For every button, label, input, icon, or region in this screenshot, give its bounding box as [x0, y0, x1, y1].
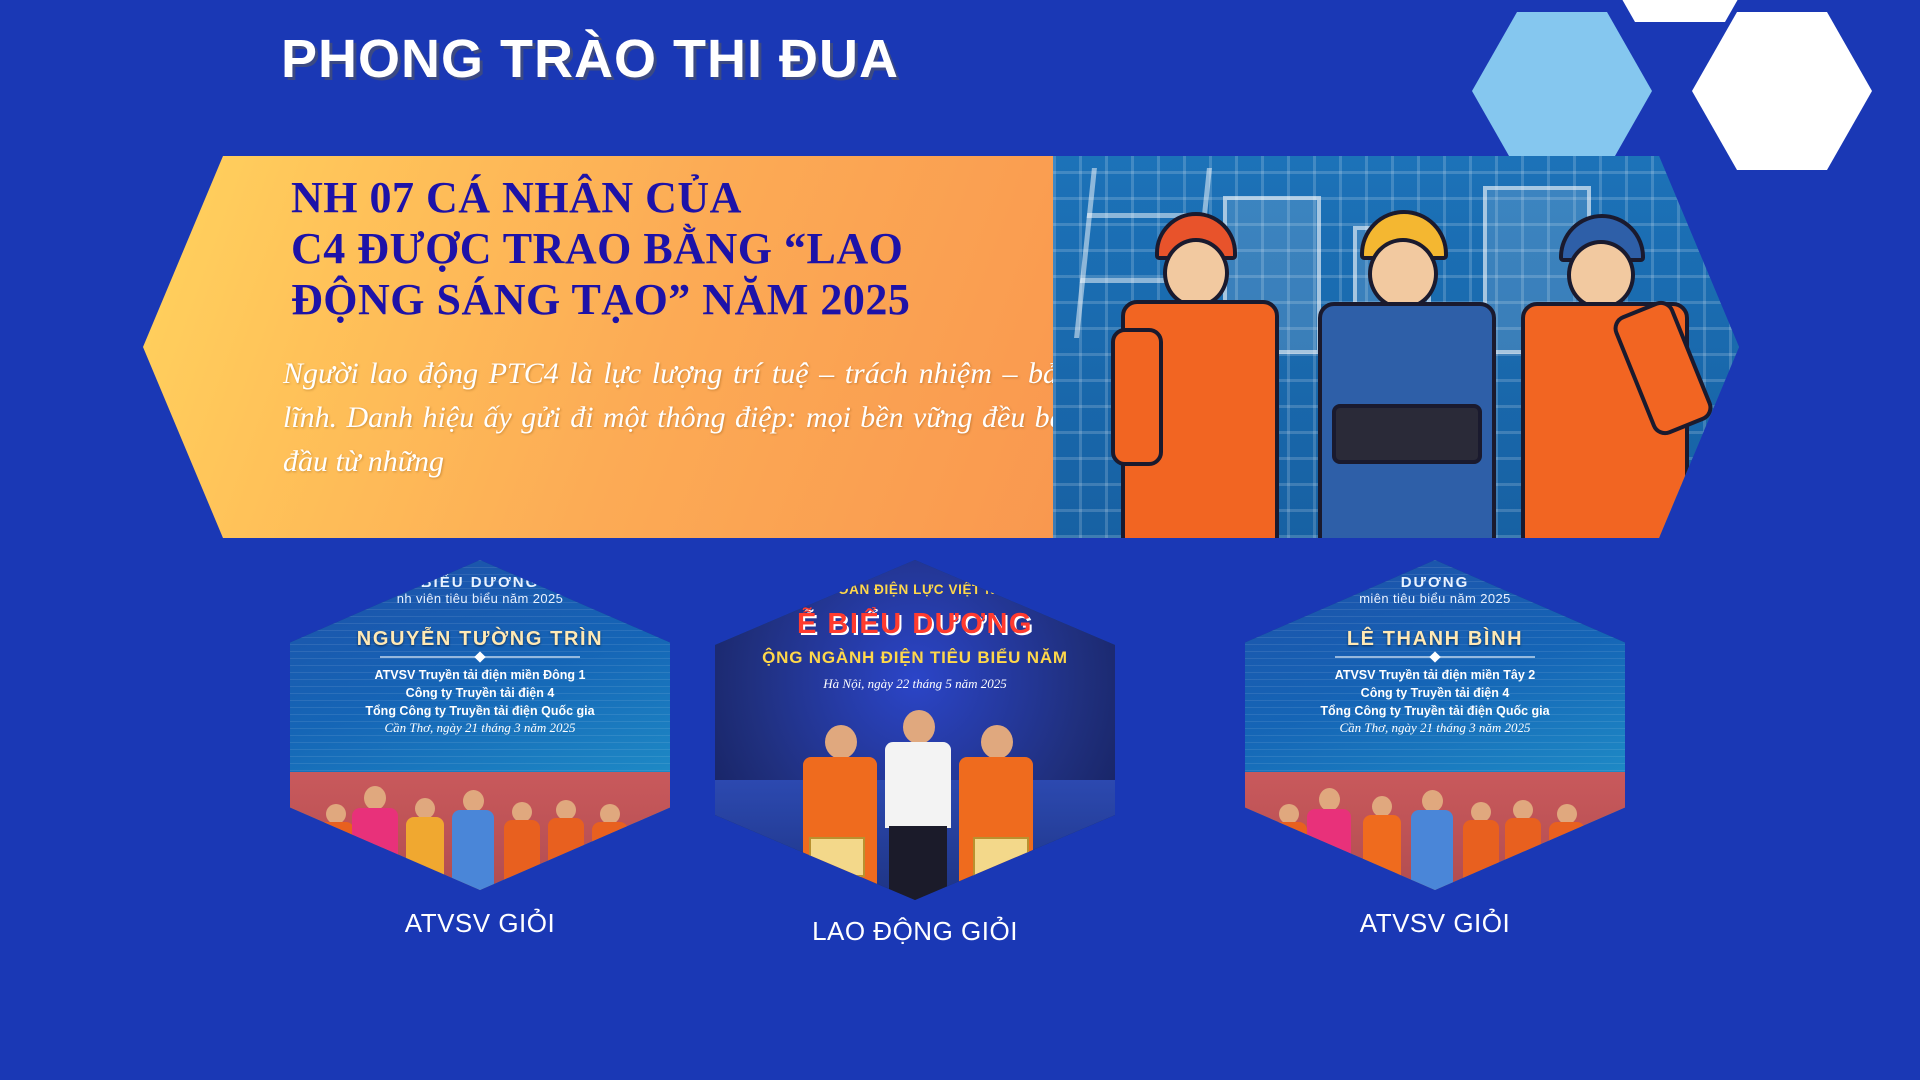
card-caption-1: ATVSV GIỎI — [290, 908, 670, 939]
logo-hexagon-light-blue — [1472, 12, 1652, 170]
banner-heading-line-2: C4 ĐƯỢC TRAO BẰNG “LAO — [291, 223, 1051, 274]
honoree-org-1: ATVSV Truyền tải điện miền Đông 1 Công t… — [290, 666, 670, 720]
person-head — [512, 802, 532, 822]
person-body — [548, 818, 584, 890]
person-head — [600, 804, 620, 824]
photo-backdrop-heading-1: BIỂU DƯƠNG nh viên tiêu biểu năm 2025 — [290, 574, 670, 606]
person-1-4 — [450, 790, 496, 890]
honoree-name-1: NGUYỄN TƯỜNG TRÌN — [290, 628, 670, 651]
banner-illustration-panel — [1053, 156, 1739, 538]
person-3-1 — [1269, 804, 1309, 890]
person-body — [452, 810, 494, 890]
person-2-2 — [881, 710, 955, 900]
honoree-org-3-line1: ATVSV Truyền tải điện miền Tây 2 — [1245, 666, 1625, 684]
divider-1 — [380, 656, 580, 658]
ceremony-title-2: Ễ BIỂU DƯƠNG — [715, 608, 1115, 641]
person-3-6 — [1503, 800, 1543, 890]
photo-hexagon-2: G ĐOÀN ĐIỆN LỰC VIỆT NAM Ễ BIỂU DƯƠNG ỘN… — [715, 560, 1115, 900]
worker-figure-3 — [1503, 208, 1703, 538]
honoree-place-3: Cần Thơ, ngày 21 tháng 3 năm 2025 — [1245, 720, 1625, 736]
person-2-3 — [959, 725, 1033, 900]
honoree-org-3: ATVSV Truyền tải điện miền Tây 2 Công ty… — [1245, 666, 1625, 720]
arm-1 — [1111, 328, 1163, 466]
photo-hexagon-3: DƯƠNG miên tiêu biểu năm 2025 LÊ THANH B… — [1245, 560, 1625, 890]
ceremony-org-2: G ĐOÀN ĐIỆN LỰC VIỆT NAM — [715, 582, 1115, 597]
photo-backdrop-heading-3-line1: DƯƠNG — [1245, 574, 1625, 591]
photo-backdrop-heading-3-line2: miên tiêu biểu năm 2025 — [1359, 591, 1511, 606]
honoree-org-3-line2: Công ty Truyền tải điện 4 — [1245, 684, 1625, 702]
person-1-6 — [546, 800, 586, 890]
person-head — [1372, 796, 1392, 817]
person-1-2 — [352, 786, 398, 890]
person-head — [825, 725, 857, 759]
person-body — [1411, 810, 1453, 890]
person-body — [318, 822, 354, 890]
person-trousers — [889, 826, 947, 900]
photo-card-1[interactable]: BIỂU DƯƠNG nh viên tiêu biểu năm 2025 NG… — [290, 560, 670, 890]
ceremony-place-2: Hà Nội, ngày 22 tháng 5 năm 2025 — [715, 676, 1115, 692]
person-head — [1279, 804, 1299, 824]
headline-banner: NH 07 CÁ NHÂN CỦA C4 ĐƯỢC TRAO BẰNG “LAO… — [143, 156, 1739, 538]
person-head — [326, 804, 346, 824]
person-body — [592, 822, 628, 890]
worker-figure-1 — [1103, 208, 1293, 538]
banner-left-panel: NH 07 CÁ NHÂN CỦA C4 ĐƯỢC TRAO BẰNG “LAO… — [143, 156, 1053, 538]
person-1-3 — [404, 798, 446, 890]
person-body — [959, 757, 1033, 900]
honoree-org-1-line3: Tổng Công ty Truyền tải điện Quốc gia — [290, 702, 670, 720]
photo-backdrop-heading-1-line2: nh viên tiêu biểu năm 2025 — [397, 591, 564, 606]
person-3-4 — [1409, 790, 1455, 890]
page-title: PHONG TRÀO THI ĐUA — [0, 28, 1180, 90]
person-1-5 — [502, 802, 542, 890]
person-body — [504, 820, 540, 890]
face-2 — [1368, 238, 1438, 310]
person-2-1 — [803, 725, 877, 900]
person-head — [463, 790, 484, 812]
photo-card-row: BIỂU DƯƠNG nh viên tiêu biểu năm 2025 NG… — [0, 560, 1920, 1020]
photo-backdrop-heading-3: DƯƠNG miên tiêu biểu năm 2025 — [1245, 574, 1625, 606]
face-1 — [1163, 238, 1229, 308]
card-caption-3: ATVSV GIỎI — [1245, 908, 1625, 939]
honoree-name-3: LÊ THANH BÌNH — [1245, 628, 1625, 651]
banner-heading: NH 07 CÁ NHÂN CỦA C4 ĐƯỢC TRAO BẰNG “LAO… — [291, 172, 1051, 325]
certificate-icon — [973, 837, 1029, 877]
person-head — [1471, 802, 1491, 822]
person-3-2 — [1307, 788, 1351, 890]
divider-3 — [1335, 656, 1535, 658]
person-body — [352, 808, 398, 890]
honoree-org-1-line1: ATVSV Truyền tải điện miền Đông 1 — [290, 666, 670, 684]
person-head — [1319, 788, 1340, 811]
photo-card-3[interactable]: DƯƠNG miên tiêu biểu năm 2025 LÊ THANH B… — [1245, 560, 1625, 890]
person-1-7 — [590, 804, 630, 890]
banner-heading-line-3: ĐỘNG SÁNG TẠO” NĂM 2025 — [291, 274, 1051, 325]
person-body — [1505, 818, 1541, 890]
person-body — [1307, 809, 1351, 890]
certificate-icon — [809, 837, 865, 877]
card-caption-2: LAO ĐỘNG GIỎI — [715, 916, 1115, 947]
person-head — [415, 798, 435, 819]
banner-heading-line-1: NH 07 CÁ NHÂN CỦA — [291, 172, 1051, 223]
person-shirt — [885, 742, 951, 828]
banner-subtitle: Người lao động PTC4 là lực lượng trí tuệ… — [283, 352, 1073, 484]
worker-figure-2 — [1298, 208, 1508, 538]
person-head — [903, 710, 935, 744]
person-head — [1513, 800, 1533, 820]
person-body — [1549, 822, 1585, 890]
photo-hexagon-1: BIỂU DƯƠNG nh viên tiêu biểu năm 2025 NG… — [290, 560, 670, 890]
person-body — [1463, 820, 1499, 890]
logo-hexagon-white-right — [1692, 12, 1872, 170]
photo-card-2[interactable]: G ĐOÀN ĐIỆN LỰC VIỆT NAM Ễ BIỂU DƯƠNG ỘN… — [725, 560, 1105, 900]
person-body — [406, 817, 444, 890]
person-body — [803, 757, 877, 900]
person-3-5 — [1461, 802, 1501, 890]
person-head — [556, 800, 576, 820]
honoree-place-1: Cần Thơ, ngày 21 tháng 3 năm 2025 — [290, 720, 670, 736]
person-head — [1557, 804, 1577, 824]
hexagon-logo — [1472, 0, 1902, 172]
photo-backdrop-heading-1-line1: BIỂU DƯƠNG — [290, 574, 670, 591]
honoree-org-1-line2: Công ty Truyền tải điện 4 — [290, 684, 670, 702]
person-body — [1271, 822, 1307, 890]
ceremony-subtitle-2: ỘNG NGÀNH ĐIỆN TIÊU BIỂU NĂM — [715, 648, 1115, 668]
person-3-7 — [1547, 804, 1587, 890]
face-3 — [1567, 240, 1635, 310]
person-body — [1363, 815, 1401, 890]
person-head — [1422, 790, 1443, 812]
honoree-org-3-line3: Tổng Công ty Truyền tải điện Quốc gia — [1245, 702, 1625, 720]
three-workers-illustration — [1053, 156, 1739, 538]
person-head — [364, 786, 386, 810]
laptop-icon — [1332, 404, 1482, 464]
slide-root: PHONG TRÀO THI ĐUA NH 07 CÁ NHÂN CỦA C4 … — [0, 0, 1920, 1080]
person-3-3 — [1361, 796, 1403, 890]
person-1-1 — [316, 804, 356, 890]
person-head — [981, 725, 1013, 759]
